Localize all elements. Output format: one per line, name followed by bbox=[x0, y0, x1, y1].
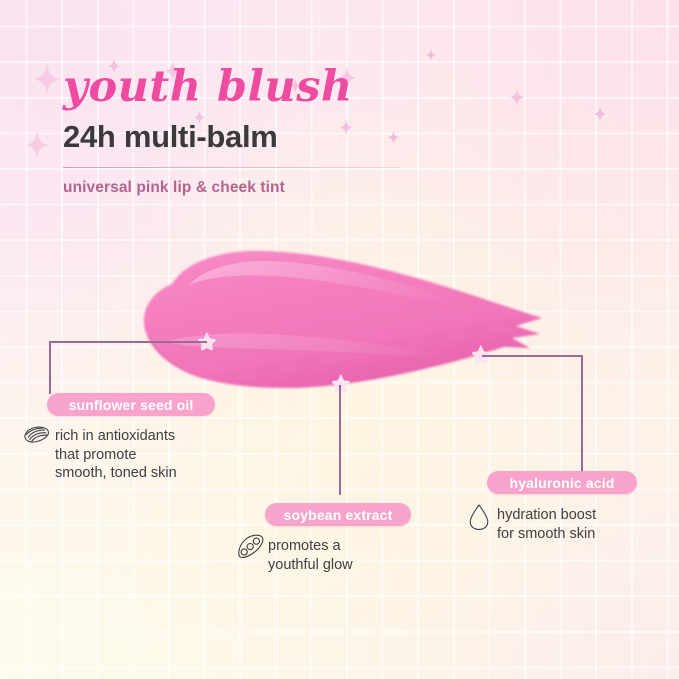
connector-hyaluronic-vertical bbox=[581, 355, 583, 472]
pill-sunflower-seed-oil[interactable]: sunflower seed oil bbox=[47, 393, 215, 416]
water-droplet-icon bbox=[467, 503, 491, 531]
header-divider bbox=[63, 167, 400, 169]
connector-soybean-vertical bbox=[339, 385, 341, 495]
description-soybean-extract: promotes a youthful glow bbox=[268, 537, 438, 574]
pill-label: soybean extract bbox=[284, 507, 393, 523]
brand-title: youth blush bbox=[63, 66, 493, 109]
header-block: youth blush 24h multi-balm universal pin… bbox=[63, 66, 493, 197]
connector-hyaluronic-horizontal bbox=[482, 355, 583, 357]
pill-label: sunflower seed oil bbox=[69, 397, 194, 413]
description-sunflower-seed-oil: rich in antioxidants that promote smooth… bbox=[55, 427, 235, 483]
pill-hyaluronic-acid[interactable]: hyaluronic acid bbox=[487, 471, 637, 494]
description-hyaluronic-acid: hydration boost for smooth skin bbox=[497, 506, 667, 543]
product-infographic: youth blush 24h multi-balm universal pin… bbox=[0, 0, 679, 679]
pill-label: hyaluronic acid bbox=[510, 475, 615, 491]
soybean-pod-icon bbox=[236, 534, 266, 560]
connector-sunflower-horizontal bbox=[49, 341, 207, 343]
pill-soybean-extract[interactable]: soybean extract bbox=[265, 503, 411, 526]
product-tagline: universal pink lip & cheek tint bbox=[63, 179, 493, 197]
sunflower-seed-icon bbox=[22, 424, 52, 450]
connector-sunflower-vertical bbox=[49, 341, 51, 394]
product-title: 24h multi-balm bbox=[63, 121, 493, 154]
